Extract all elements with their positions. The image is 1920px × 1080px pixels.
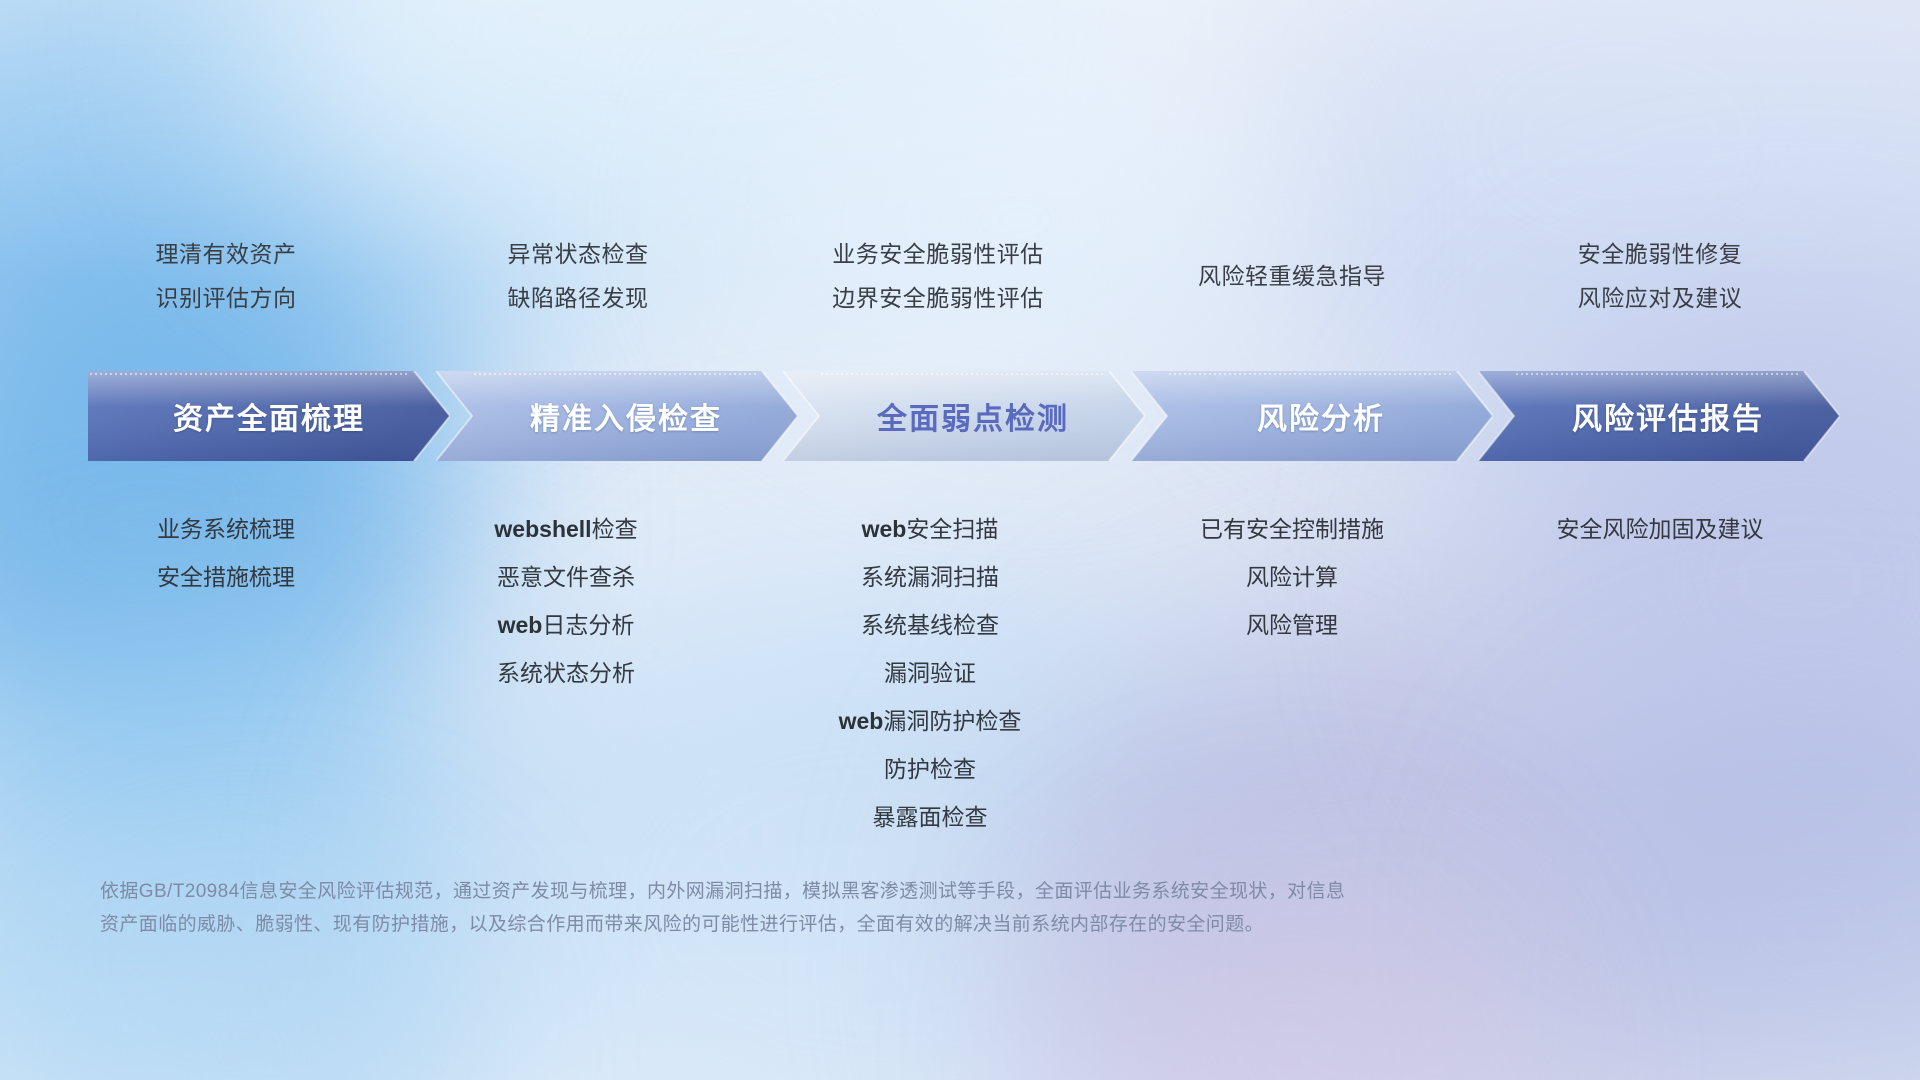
stage-input-line: 异常状态检查 xyxy=(378,232,778,276)
activity-text: 漏洞防护检查 xyxy=(883,708,1021,734)
stage-input-line: 安全脆弱性修复 xyxy=(1460,232,1860,276)
stage-inputs-asset-inventory: 理清有效资产识别评估方向 xyxy=(26,232,426,320)
description-line-1: 依据GB/T20984信息安全风险评估规范，通过资产发现与梳理，内外网漏洞扫描，… xyxy=(100,875,1620,908)
stage-input-line: 边界安全脆弱性评估 xyxy=(738,276,1138,320)
stage-activity-item: 防护检查 xyxy=(720,745,1140,793)
stage-activity-item: 安全风险加固及建议 xyxy=(1450,505,1870,553)
stage-activity-item: 暴露面检查 xyxy=(720,793,1140,841)
stage-arrow-risk-report[interactable]: 风险评估报告 xyxy=(1478,371,1840,461)
process-diagram: 理清有效资产识别评估方向异常状态检查缺陷路径发现业务安全脆弱性评估边界安全脆弱性… xyxy=(0,0,1920,1080)
stage-activity-item: 已有安全控制措施 xyxy=(1082,505,1502,553)
stage-arrow-label: 风险评估报告 xyxy=(1572,394,1764,438)
stage-activity-item: 系统基线检查 xyxy=(720,601,1140,649)
stage-arrow-label: 风险分析 xyxy=(1257,394,1385,438)
stage-input-line: 缺陷路径发现 xyxy=(378,276,778,320)
activity-text: 安全扫描 xyxy=(906,516,998,542)
stage-arrow-asset-inventory[interactable]: 资产全面梳理 xyxy=(88,371,450,461)
stage-input-line: 业务安全脆弱性评估 xyxy=(738,232,1138,276)
stage-arrow-risk-analysis[interactable]: 风险分析 xyxy=(1131,371,1493,461)
stage-activity-item: webshell检查 xyxy=(356,505,776,553)
stage-activity-item: 系统漏洞扫描 xyxy=(720,553,1140,601)
stage-inputs-intrusion-check: 异常状态检查缺陷路径发现 xyxy=(378,232,778,320)
stage-activity-item: 风险管理 xyxy=(1082,601,1502,649)
stage-activities-risk-analysis: 已有安全控制措施风险计算风险管理 xyxy=(1082,505,1502,649)
activity-keyword: webshell xyxy=(494,516,591,542)
stage-inputs-row: 理清有效资产识别评估方向异常状态检查缺陷路径发现业务安全脆弱性评估边界安全脆弱性… xyxy=(0,232,1920,322)
stage-activities-weakness-detection: web安全扫描系统漏洞扫描系统基线检查漏洞验证web漏洞防护检查防护检查暴露面检… xyxy=(720,505,1140,841)
stage-arrow-label: 资产全面梳理 xyxy=(173,394,365,438)
description-paragraph: 依据GB/T20984信息安全风险评估规范，通过资产发现与梳理，内外网漏洞扫描，… xyxy=(100,875,1620,941)
activity-text: 检查 xyxy=(592,516,638,542)
stage-input-line: 风险轻重缓急指导 xyxy=(1092,254,1492,298)
stage-input-line: 风险应对及建议 xyxy=(1460,276,1860,320)
activity-text: 日志分析 xyxy=(542,612,634,638)
stage-arrow-intrusion-check[interactable]: 精准入侵检查 xyxy=(436,371,798,461)
stage-activity-item: web日志分析 xyxy=(356,601,776,649)
stage-activity-item: web漏洞防护检查 xyxy=(720,697,1140,745)
stage-activity-item: 风险计算 xyxy=(1082,553,1502,601)
stage-activity-item: 系统状态分析 xyxy=(356,649,776,697)
stage-inputs-weakness-detection: 业务安全脆弱性评估边界安全脆弱性评估 xyxy=(738,232,1138,320)
stage-inputs-risk-analysis: 风险轻重缓急指导 xyxy=(1092,254,1492,298)
stage-activities-risk-report: 安全风险加固及建议 xyxy=(1450,505,1870,553)
activity-keyword: web xyxy=(862,516,907,542)
stage-arrow-label: 精准入侵检查 xyxy=(530,394,722,438)
activity-keyword: web xyxy=(839,708,884,734)
description-line-2: 资产面临的威胁、脆弱性、现有防护措施，以及综合作用而带来风险的可能性进行评估，全… xyxy=(100,908,1620,941)
stage-arrow-label: 全面弱点检测 xyxy=(877,394,1069,438)
stage-activities-intrusion-check: webshell检查恶意文件查杀web日志分析系统状态分析 xyxy=(356,505,776,697)
stage-activity-item: 恶意文件查杀 xyxy=(356,553,776,601)
stage-input-line: 识别评估方向 xyxy=(26,276,426,320)
stage-arrow-band: 资产全面梳理精准入侵检查全面弱点检测风险分析风险评估报告 xyxy=(88,371,1840,461)
stage-activity-item: web安全扫描 xyxy=(720,505,1140,553)
stage-inputs-risk-report: 安全脆弱性修复风险应对及建议 xyxy=(1460,232,1860,320)
stage-input-line: 理清有效资产 xyxy=(26,232,426,276)
stage-activity-item: 漏洞验证 xyxy=(720,649,1140,697)
activity-keyword: web xyxy=(498,612,543,638)
stage-arrow-weakness-detection[interactable]: 全面弱点检测 xyxy=(783,371,1145,461)
